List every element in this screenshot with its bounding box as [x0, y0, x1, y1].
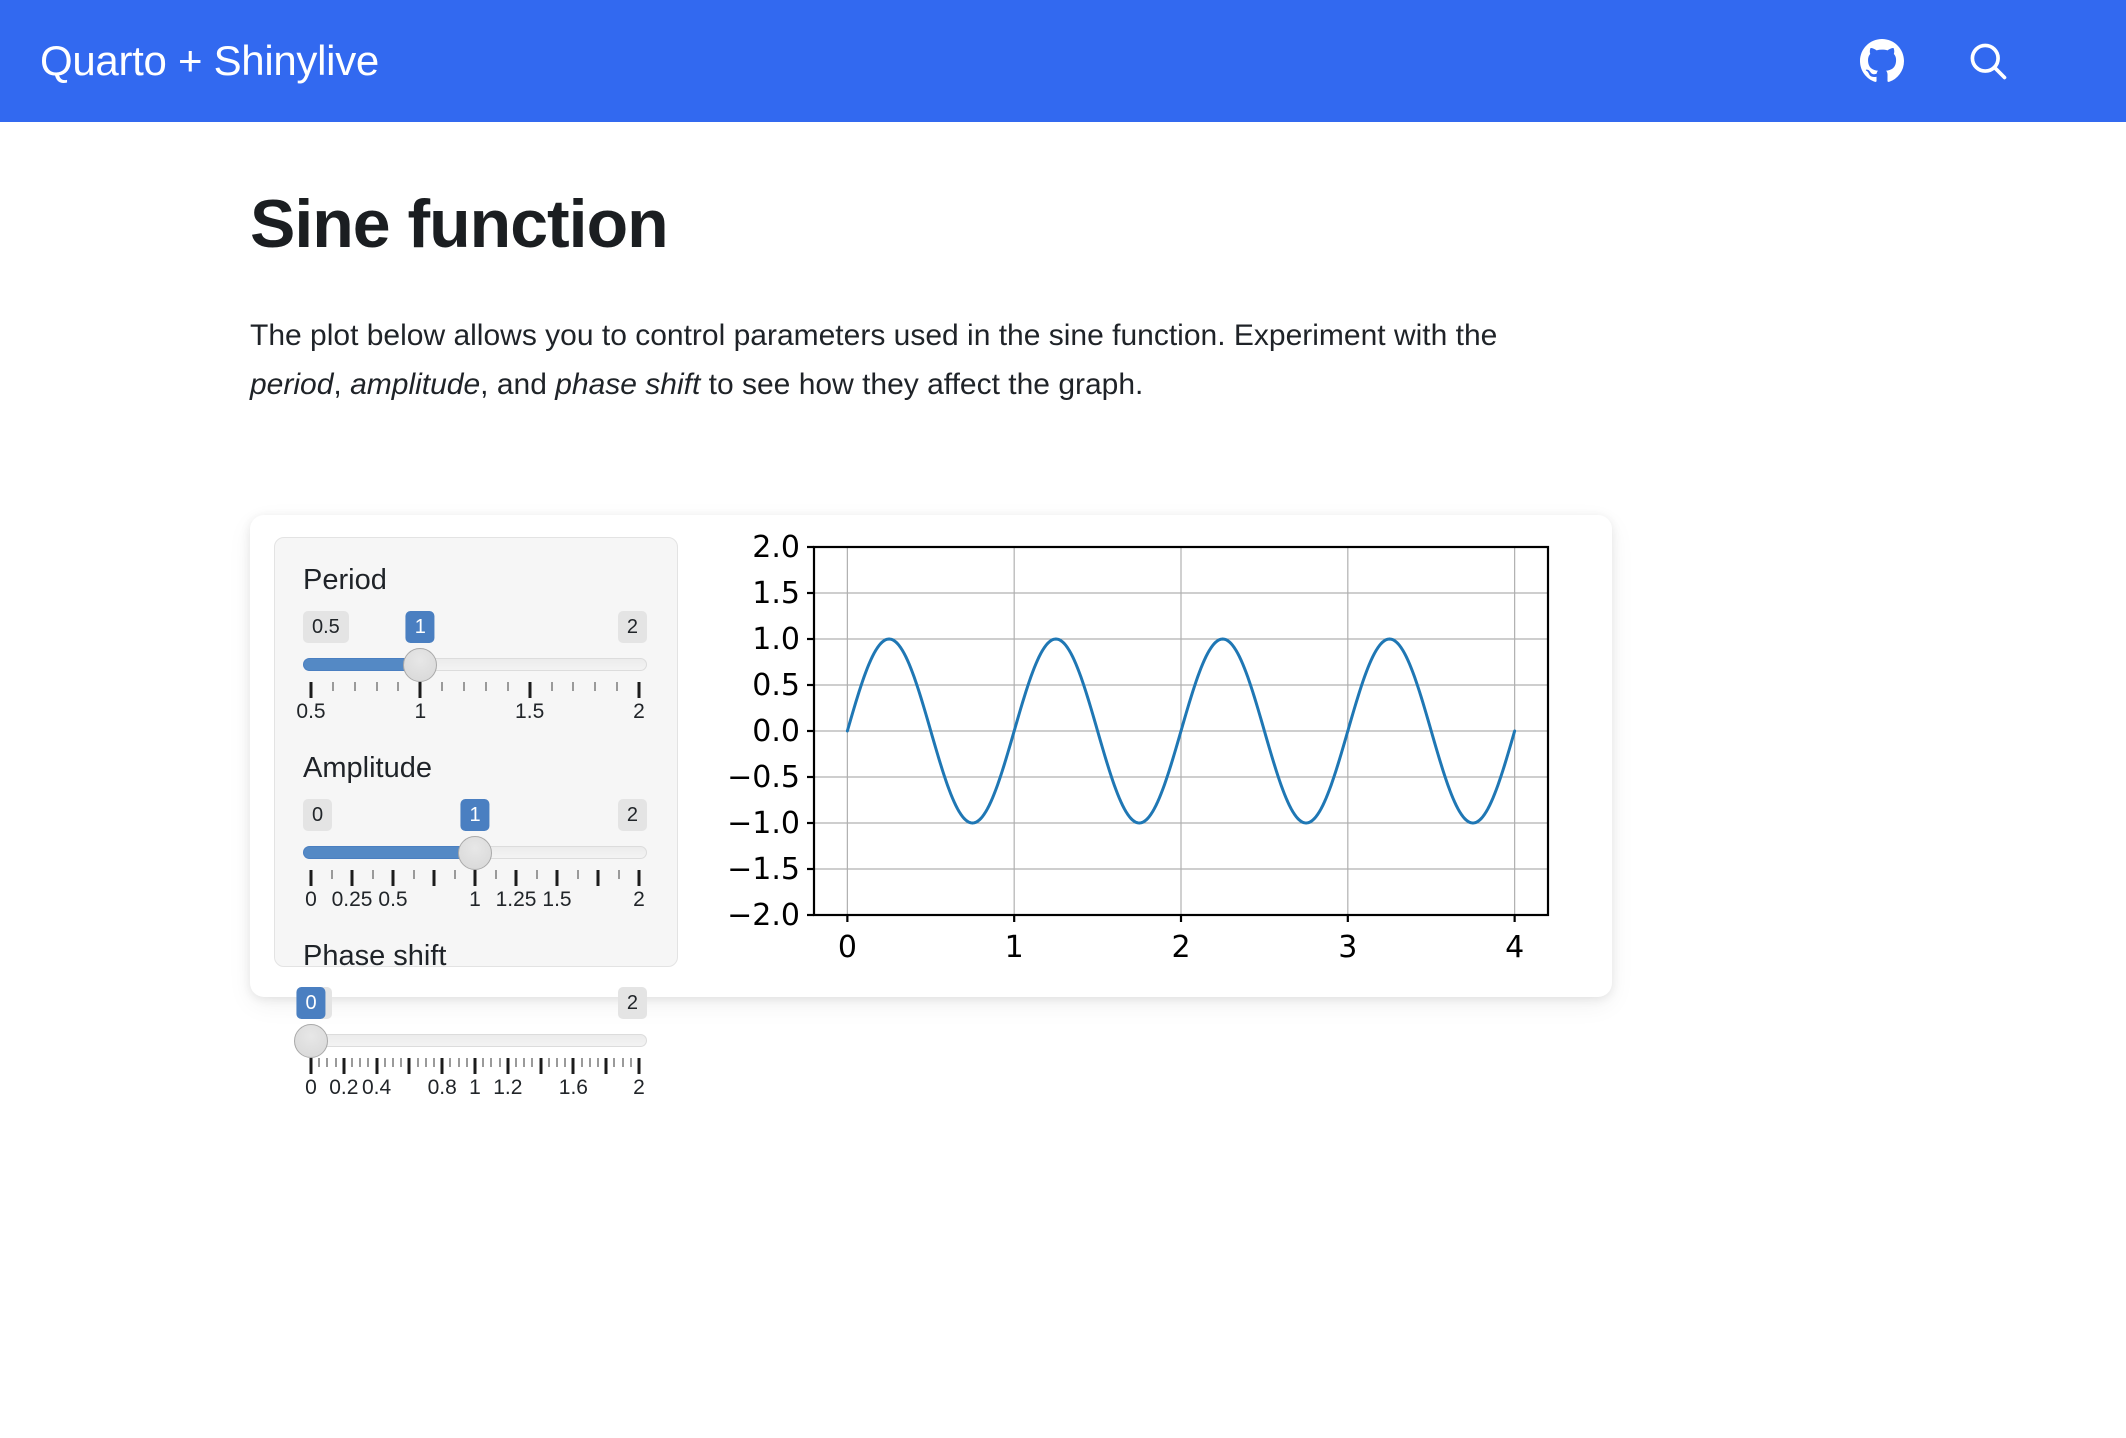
slider-tick	[474, 1058, 477, 1074]
slider-tick	[359, 1058, 361, 1067]
slider-tick	[616, 682, 618, 691]
slider-tick	[354, 682, 356, 691]
slider-track-bg-phase-shift	[303, 1034, 647, 1047]
slider-tick	[515, 870, 518, 886]
slider-tick-label: 1.5	[515, 700, 544, 724]
slider-tick-label: 2	[633, 1076, 645, 1100]
slider-tick-label: 1.6	[559, 1076, 588, 1100]
slider-tick	[531, 1058, 533, 1067]
slider-tick	[490, 1058, 492, 1067]
slider-tick	[539, 1058, 542, 1074]
slider-tick	[397, 682, 399, 691]
slider-tick	[638, 682, 641, 698]
slider-amplitude[interactable]: 02100.250.511.251.52	[303, 799, 647, 914]
page-description: The plot below allows you to control par…	[250, 312, 1590, 409]
slider-tick	[594, 682, 596, 691]
slider-tick	[597, 1058, 599, 1067]
slider-tick-label: 1	[469, 1076, 481, 1100]
slider-tick	[384, 1058, 386, 1067]
slider-tick	[441, 1058, 444, 1074]
slider-tick	[408, 1058, 411, 1074]
slider-tick	[417, 1058, 419, 1067]
slider-ticks-phase-shift	[303, 1058, 647, 1074]
slider-tick	[495, 870, 497, 879]
slider-tick	[419, 682, 422, 698]
slider-tick	[454, 870, 456, 879]
plot-area: −2.0−1.5−1.0−0.50.00.51.01.52.001234	[678, 529, 1596, 975]
y-tick-label: −2.0	[727, 898, 800, 933]
top-navbar: Quarto + Shinylive	[0, 0, 2126, 122]
slider-track-amplitude[interactable]	[303, 835, 647, 869]
slider-track-phase-shift[interactable]	[303, 1023, 647, 1057]
slider-thumb-amplitude[interactable]	[458, 836, 492, 870]
slider-tick-label: 0.2	[329, 1076, 358, 1100]
search-icon[interactable]	[1965, 38, 2011, 84]
y-tick-label: 1.5	[752, 576, 800, 611]
slider-tick-label: 1	[469, 888, 481, 912]
slider-tick	[515, 1058, 517, 1067]
slider-tick	[318, 1058, 320, 1067]
control-label-period: Period	[303, 564, 649, 597]
slider-tick-label: 0.5	[378, 888, 407, 912]
sine-plot: −2.0−1.5−1.0−0.50.00.51.01.52.001234	[722, 533, 1572, 983]
github-icon[interactable]	[1859, 38, 1905, 84]
slider-tick	[499, 1058, 501, 1067]
slider-tick	[506, 1058, 509, 1074]
slider-tick-label: 0.5	[296, 700, 325, 724]
slider-tick	[372, 870, 374, 879]
slider-tick	[392, 870, 395, 886]
slider-tick	[572, 682, 574, 691]
y-tick-label: −0.5	[727, 760, 800, 795]
slider-max-badge-phase-shift: 2	[618, 987, 647, 1019]
x-tick-label: 1	[1005, 930, 1024, 965]
description-sep-1: ,	[333, 368, 350, 401]
slider-max-badge-amplitude: 2	[618, 799, 647, 831]
slider-tick	[351, 870, 354, 886]
control-label-amplitude: Amplitude	[303, 752, 649, 785]
slider-tick	[605, 1058, 608, 1074]
slider-tick	[564, 1058, 566, 1067]
slider-tick	[577, 870, 579, 879]
slider-tick	[310, 682, 313, 698]
navbar-tools	[1859, 38, 2011, 84]
slider-track-period[interactable]	[303, 647, 647, 681]
slider-tick	[589, 1058, 591, 1067]
slider-tick	[622, 1058, 624, 1067]
slider-tick-label: 0.8	[428, 1076, 457, 1100]
slider-value-badge-amplitude: 1	[460, 799, 489, 831]
slider-tick	[528, 682, 531, 698]
slider-tick	[618, 870, 620, 879]
slider-tick	[351, 1058, 353, 1067]
slider-tick	[581, 1058, 583, 1067]
emphasis-phase-shift: phase shift	[555, 368, 700, 401]
slider-tick	[400, 1058, 402, 1067]
controls-sidebar: Period0.5210.511.52Amplitude02100.250.51…	[274, 537, 678, 967]
slider-tick	[342, 1058, 345, 1074]
slider-tick	[433, 870, 436, 886]
slider-tick	[335, 1058, 337, 1067]
slider-thumb-phase-shift[interactable]	[294, 1024, 328, 1058]
slider-tick	[376, 682, 378, 691]
slider-phase-shift[interactable]: 02000.20.40.811.21.62	[303, 987, 647, 1102]
slider-tick-label: 0	[305, 888, 317, 912]
slider-tick-label: 1.2	[493, 1076, 522, 1100]
y-tick-label: 0.0	[752, 714, 800, 749]
slider-tick-labels-period: 0.511.52	[303, 700, 647, 726]
slider-thumb-period[interactable]	[403, 648, 437, 682]
y-tick-label: 2.0	[752, 533, 800, 565]
slider-tick	[310, 1058, 313, 1074]
slider-tick	[638, 1058, 641, 1074]
x-tick-label: 0	[838, 930, 857, 965]
slider-tick	[548, 1058, 550, 1067]
slider-tick-label: 0.4	[362, 1076, 391, 1100]
control-phase-shift: Phase shift02000.20.40.811.21.62	[303, 940, 649, 1102]
slider-tick	[556, 870, 559, 886]
slider-tick	[326, 1058, 328, 1067]
slider-tick	[638, 870, 641, 886]
slider-tick-label: 2	[633, 888, 645, 912]
slider-tick	[507, 682, 509, 691]
slider-tick	[332, 682, 334, 691]
slider-tick	[482, 1058, 484, 1067]
slider-value-badge-period: 1	[406, 611, 435, 643]
slider-tick-label: 2	[633, 700, 645, 724]
slider-tick	[597, 870, 600, 886]
y-tick-label: 1.0	[752, 622, 800, 657]
slider-tick-label: 1.25	[496, 888, 537, 912]
description-sep-2: , and	[480, 368, 555, 401]
slider-min-badge-amplitude: 0	[303, 799, 332, 831]
slider-period[interactable]: 0.5210.511.52	[303, 611, 647, 726]
slider-min-badge-period: 0.5	[303, 611, 349, 643]
slider-tick-labels-phase-shift: 00.20.40.811.21.62	[303, 1076, 647, 1102]
slider-tick	[556, 1058, 558, 1067]
slider-tick-label: 1	[414, 700, 426, 724]
slider-tick	[466, 1058, 468, 1067]
slider-tick	[413, 870, 415, 879]
slider-tick	[536, 870, 538, 879]
slider-tick-label: 1.5	[542, 888, 571, 912]
y-tick-label: −1.0	[727, 806, 800, 841]
slider-ticks-amplitude	[303, 870, 647, 886]
slider-tick-labels-amplitude: 00.250.511.251.52	[303, 888, 647, 914]
description-text-1: The plot below allows you to control par…	[250, 319, 1497, 352]
slider-tick	[458, 1058, 460, 1067]
slider-tick	[630, 1058, 632, 1067]
emphasis-period: period	[250, 368, 333, 401]
slider-tick	[331, 870, 333, 879]
slider-tick	[367, 1058, 369, 1067]
slider-tick	[441, 682, 443, 691]
x-tick-label: 3	[1338, 930, 1357, 965]
slider-tick	[485, 682, 487, 691]
slider-tick	[523, 1058, 525, 1067]
slider-value-badge-phase-shift: 0	[296, 987, 325, 1019]
slider-tick	[392, 1058, 394, 1067]
y-tick-label: −1.5	[727, 852, 800, 887]
y-tick-label: 0.5	[752, 668, 800, 703]
shinylive-app-card: Period0.5210.511.52Amplitude02100.250.51…	[250, 515, 1612, 997]
control-amplitude: Amplitude02100.250.511.251.52	[303, 752, 649, 914]
slider-max-badge-period: 2	[618, 611, 647, 643]
slider-tick	[375, 1058, 378, 1074]
site-title: Quarto + Shinylive	[40, 37, 379, 85]
x-tick-label: 2	[1171, 930, 1190, 965]
emphasis-amplitude: amplitude	[350, 368, 480, 401]
x-tick-label: 4	[1505, 930, 1524, 965]
slider-tick	[613, 1058, 615, 1067]
slider-pill-row-amplitude: 021	[303, 799, 647, 831]
slider-tick	[572, 1058, 575, 1074]
slider-ticks-period	[303, 682, 647, 698]
control-label-phase-shift: Phase shift	[303, 940, 649, 973]
slider-tick-label: 0	[305, 1076, 317, 1100]
slider-tick-label: 0.25	[332, 888, 373, 912]
slider-tick	[551, 682, 553, 691]
slider-track-fill-amplitude	[303, 846, 475, 859]
slider-tick	[425, 1058, 427, 1067]
description-text-2: to see how they affect the graph.	[700, 368, 1143, 401]
slider-tick	[463, 682, 465, 691]
slider-tick	[449, 1058, 451, 1067]
slider-pill-row-phase-shift: 020	[303, 987, 647, 1019]
slider-tick	[474, 870, 477, 886]
slider-pill-row-period: 0.521	[303, 611, 647, 643]
page-title: Sine function	[250, 190, 668, 258]
slider-tick	[310, 870, 313, 886]
slider-tick	[433, 1058, 435, 1067]
control-period: Period0.5210.511.52	[303, 564, 649, 726]
